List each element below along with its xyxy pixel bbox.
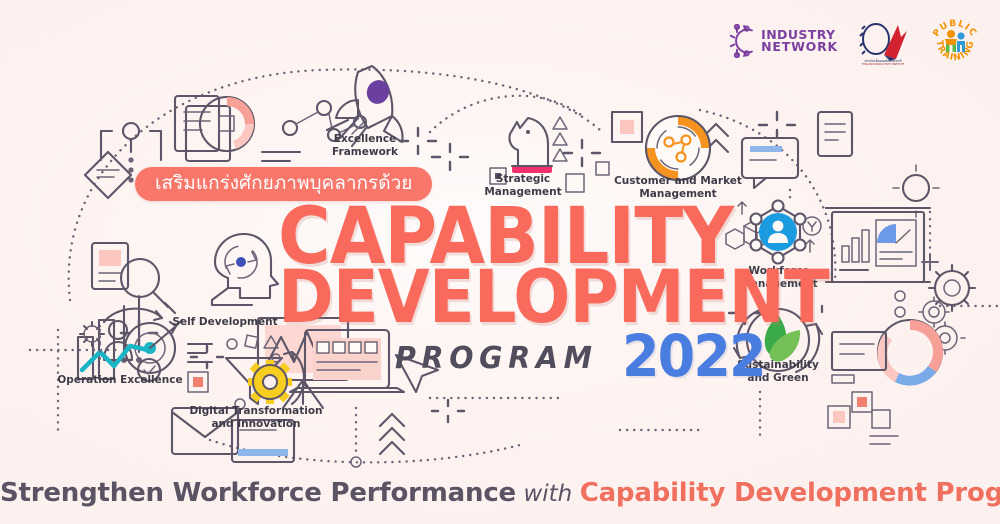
label-line-2: and Innovation (176, 418, 336, 431)
logo-row: INDUSTRY NETWORK สถาบันเพิ่มผลผลิตแห่งชา… (729, 14, 982, 68)
label-line-1: Customer and Market (608, 175, 748, 188)
label-line-1: Strategic (478, 173, 568, 186)
tagline-part-2: with (520, 481, 575, 507)
logo-public-arc-top: PUBLIC (932, 19, 979, 39)
logo-industry-network-text: INDUSTRY NETWORK (761, 29, 838, 54)
logo-line-2: NETWORK (761, 41, 838, 54)
gear-circuit-icon (729, 24, 759, 58)
module-label-self-development: Self Development (166, 316, 284, 329)
gear-icon (80, 322, 104, 346)
logo-thai-sub: THAILAND PRODUCTIVITY INSTITUTE (854, 63, 912, 67)
head-refresh-icon (212, 234, 278, 305)
tagline-part-1: Strengthen Workforce Performance (0, 478, 516, 508)
logo-thai-text: สถาบันเพิ่มผลผลิตแห่งชาติ THAILAND PRODU… (854, 59, 912, 67)
svg-text:PUBLIC: PUBLIC (932, 19, 979, 39)
chess-knight-icon (509, 118, 552, 173)
logo-industry-network: INDUSTRY NETWORK (729, 24, 838, 58)
module-label-excellence-framework: Excellence Framework (320, 133, 410, 158)
label-line-1: Digital Transformation (176, 405, 336, 418)
tagline-part-3: Capability Development Program (580, 478, 1000, 508)
logo-thai-institute: สถาบันเพิ่มผลผลิตแห่งชาติ THAILAND PRODU… (854, 15, 912, 67)
target-network-icon (646, 116, 710, 180)
funnel-gear-icon (188, 335, 304, 409)
year-label: 2022 (622, 333, 765, 379)
label-line-1: Operation Excellence (52, 374, 188, 387)
two-people-icon: PUBLIC TRAINING (928, 14, 982, 68)
module-label-operation-excellence: Operation Excellence (52, 374, 188, 387)
main-wordmark: CAPABILITY DEVELOPMENT (278, 204, 877, 330)
label-line-1: Self Development (166, 316, 284, 329)
logo-public-training: PUBLIC TRAINING (928, 14, 982, 68)
label-line-1: Excellence (320, 133, 410, 146)
program-year-row: PROGRAM 2022 (395, 333, 776, 379)
promotional-banner: INDUSTRY NETWORK สถาบันเพิ่มผลผลิตแห่งชา… (0, 0, 1000, 524)
module-label-digital-transformation: Digital Transformation and Innovation (176, 405, 336, 430)
bottom-tagline: Strengthen Workforce Performance with Ca… (0, 478, 1000, 508)
wordmark-line-development: DEVELOPMENT (278, 267, 829, 330)
label-line-2: Framework (320, 146, 410, 159)
program-label: PROGRAM (395, 341, 598, 379)
